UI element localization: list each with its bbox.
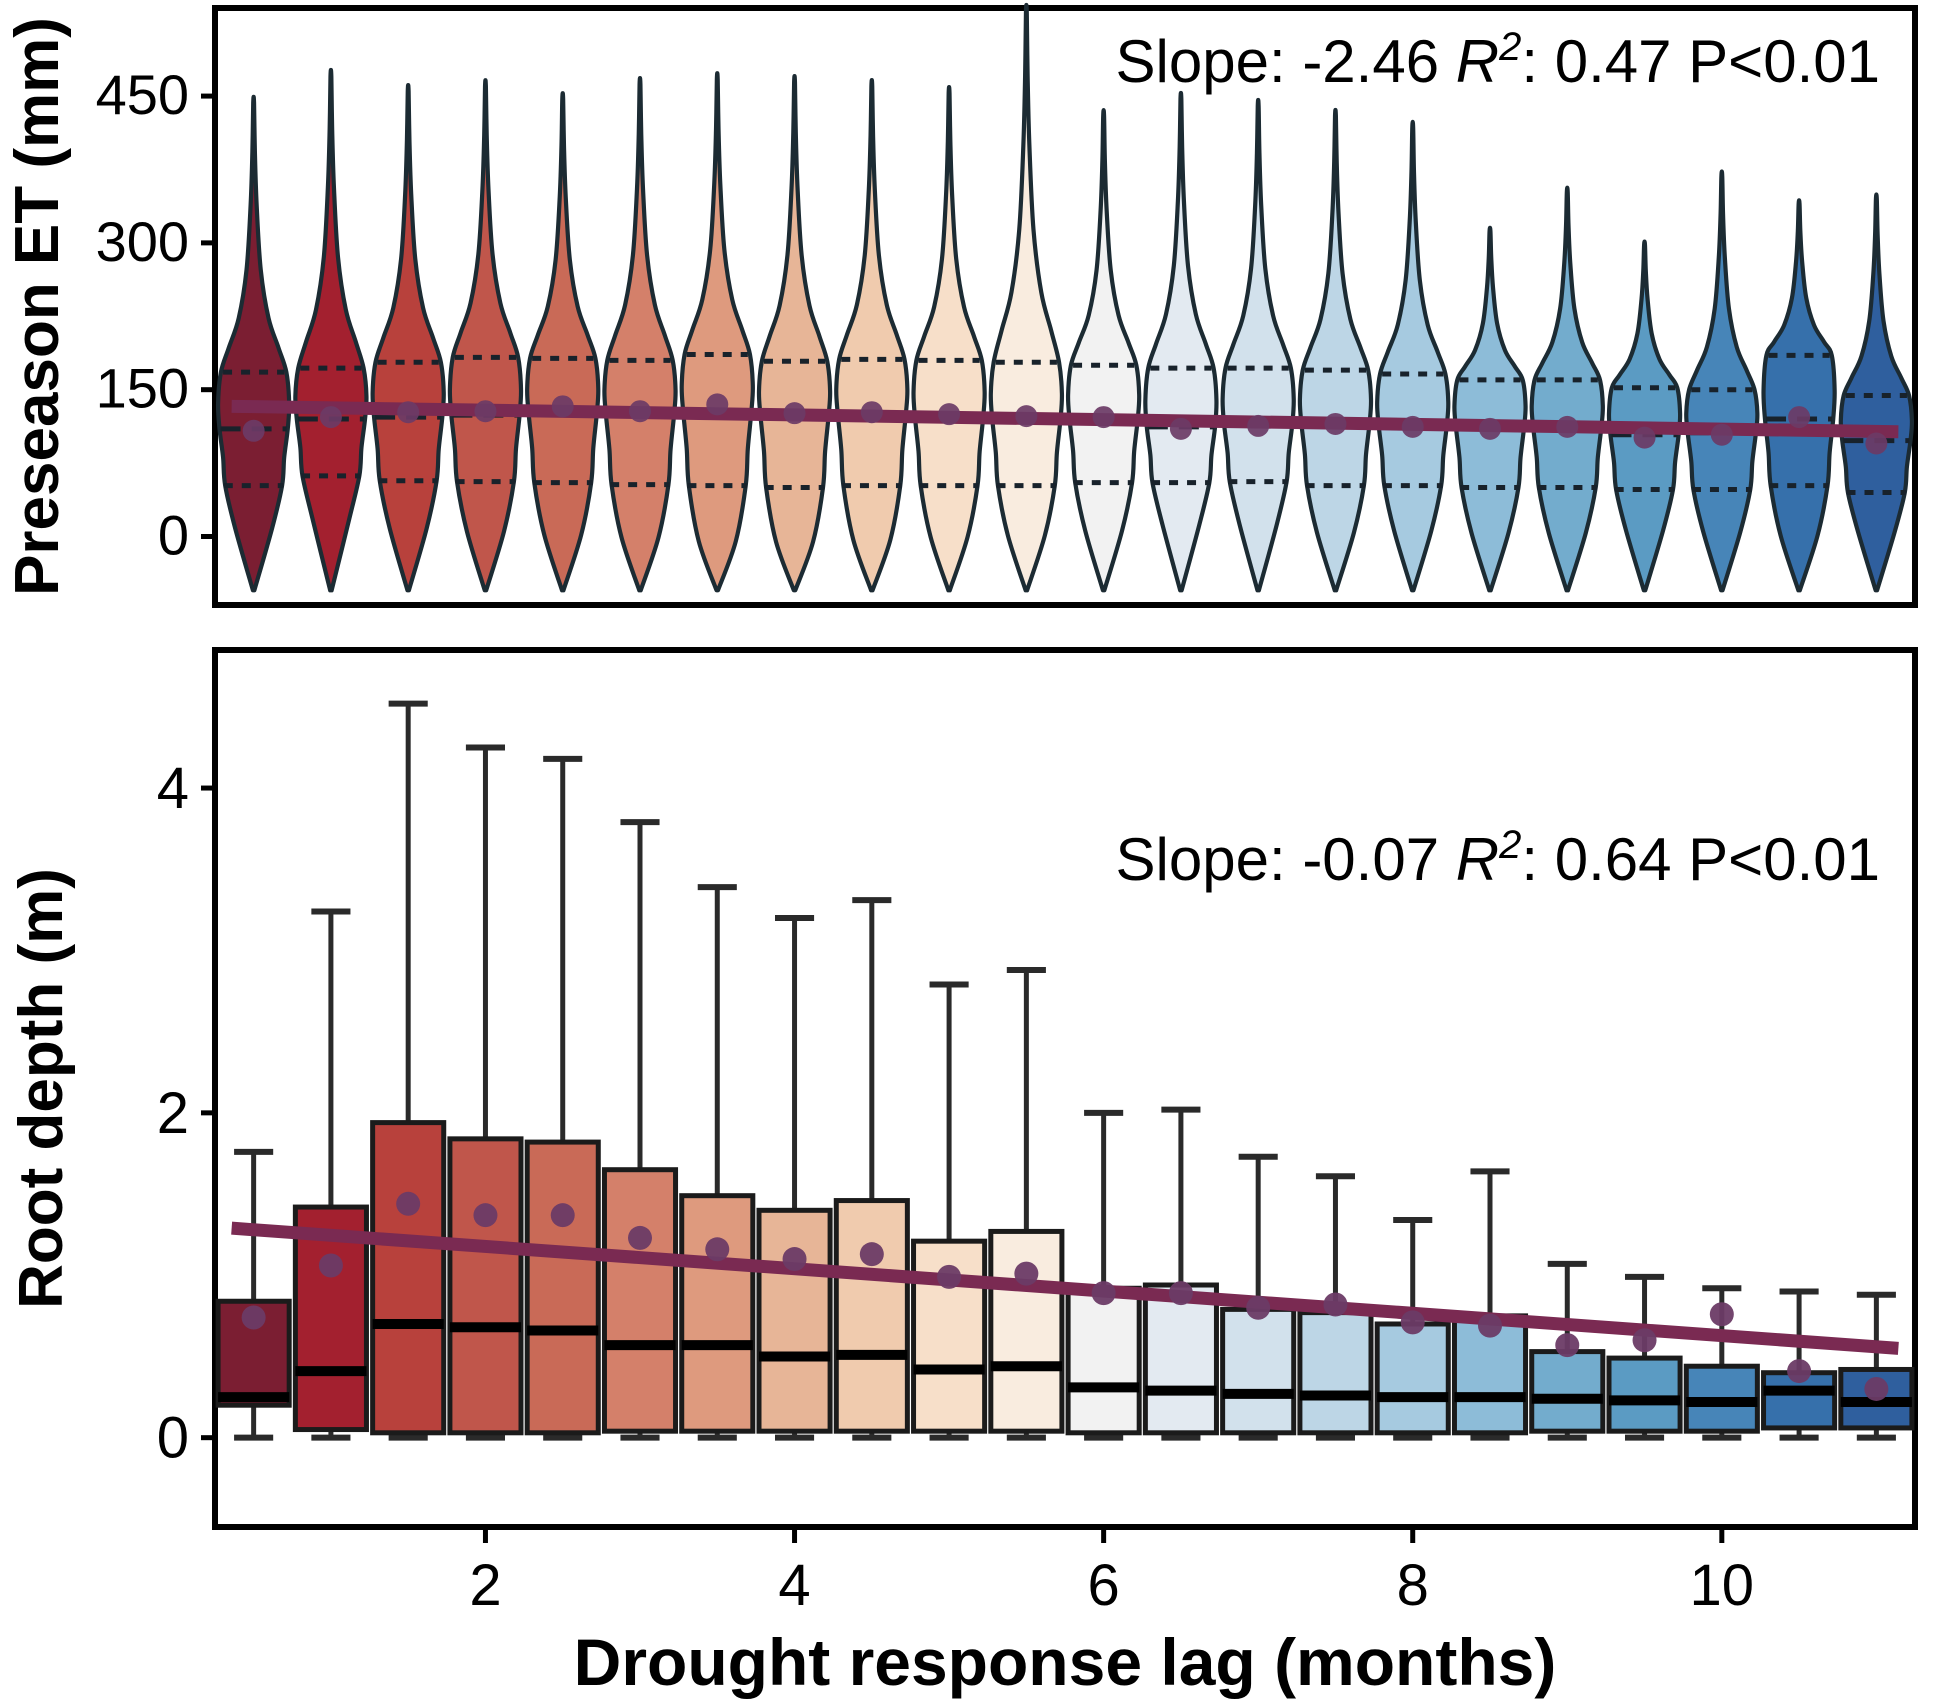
mean-marker-top [1479,418,1501,440]
mean-marker-bottom [705,1237,729,1261]
ytick-label-top: 0 [158,503,189,566]
mean-marker-top [629,400,651,422]
mean-marker-top [1093,406,1115,428]
ytick-label-top: 300 [96,210,189,273]
ylabel-preseason-et: Preseason ET (mm) [3,17,72,596]
xtick-label: 10 [1690,1553,1755,1618]
annot-r2-symbol-bottom: R [1456,826,1499,893]
mean-marker-bottom [1787,1359,1811,1383]
mean-marker-bottom [1323,1293,1347,1317]
mean-marker-top [1170,418,1192,440]
annotation-bottom: Slope: -0.07 R2: 0.64 P<0.01 [1116,823,1880,893]
mean-marker-top [552,395,574,417]
mean-marker-top [1634,427,1656,449]
box-body [1609,1358,1680,1431]
mean-marker-top [1015,405,1037,427]
annot-pvalue-top: P<0.01 [1688,28,1880,95]
xtick-label: 2 [469,1553,501,1618]
mean-marker-top [784,402,806,424]
mean-marker-bottom [396,1192,420,1216]
mean-marker-bottom [628,1226,652,1250]
mean-marker-top [1788,406,1810,428]
figure-canvas: 0150300450Preseason ET (mm)Slope: -2.46 … [0,0,1937,1700]
figure-root: 0150300450Preseason ET (mm)Slope: -2.46 … [0,0,1937,1700]
ylabel-root-depth: Root depth (m) [7,868,76,1309]
ytick-label-bottom: 2 [157,1081,189,1146]
annotation-top: Slope: -2.46 R2: 0.47 P<0.01 [1116,25,1880,95]
box-body [1223,1309,1294,1432]
panel-preseason-et: 0150300450Preseason ET (mm)Slope: -2.46 … [3,5,1915,605]
mean-marker-bottom [1478,1314,1502,1338]
box-body [759,1210,830,1431]
mean-marker-bottom [860,1242,884,1266]
mean-marker-bottom [1633,1328,1657,1352]
box-body [450,1139,521,1433]
annot-r2-exponent-bottom: 2 [1498,823,1521,867]
box-body [373,1123,444,1433]
mean-marker-bottom [1710,1302,1734,1326]
box-body [604,1170,675,1431]
box-body [1145,1285,1216,1433]
xtick-label: 4 [778,1553,810,1618]
xlabel-drought-response-lag: Drought response lag (months) [574,1625,1557,1699]
mean-marker-top [320,406,342,428]
mean-marker-bottom [783,1247,807,1271]
mean-marker-bottom [937,1265,961,1289]
box-body [1300,1313,1371,1433]
mean-marker-bottom [242,1305,266,1329]
mean-marker-top [397,401,419,423]
xtick-label: 6 [1088,1553,1120,1618]
ytick-label-bottom: 4 [157,756,189,821]
box-body [1532,1352,1603,1432]
box-body [991,1231,1062,1431]
mean-marker-bottom [1401,1310,1425,1334]
mean-marker-top [938,403,960,425]
mean-marker-top [861,401,883,423]
mean-marker-bottom [1246,1296,1270,1320]
mean-marker-bottom [551,1203,575,1227]
annot-slope-top: Slope: -2.46 [1116,28,1456,95]
mean-marker-bottom [1169,1281,1193,1305]
mean-marker-top [1865,433,1887,455]
mean-marker-bottom [1092,1281,1116,1305]
mean-marker-bottom [1014,1262,1038,1286]
mean-marker-bottom [473,1203,497,1227]
xtick-label: 8 [1397,1553,1429,1618]
panel-root-depth: 024Root depth (m)246810Slope: -0.07 R2: … [7,650,1915,1618]
box-body [682,1196,753,1431]
annot-r2-exponent-top: 2 [1498,25,1521,69]
mean-marker-top [1402,416,1424,438]
mean-marker-top [1556,416,1578,438]
mean-marker-bottom [1555,1333,1579,1357]
annot-r2-value-bottom: : 0.64 [1521,826,1688,893]
ytick-label-top: 150 [96,357,189,420]
mean-marker-top [706,393,728,415]
annot-r2-symbol-top: R [1456,28,1499,95]
mean-marker-bottom [319,1254,343,1278]
ytick-label-bottom: 0 [157,1406,189,1471]
ytick-label-top: 450 [96,63,189,126]
mean-marker-top [474,400,496,422]
mean-marker-bottom [1864,1377,1888,1401]
box-body [527,1142,598,1433]
mean-marker-top [243,420,265,442]
box-body [1377,1324,1448,1433]
annot-pvalue-bottom: P<0.01 [1688,826,1880,893]
mean-marker-top [1711,424,1733,446]
box-body [1068,1288,1139,1433]
box-body [836,1201,907,1432]
annot-slope-bottom: Slope: -0.07 [1116,826,1456,893]
annot-r2-value-top: : 0.47 [1521,28,1688,95]
mean-marker-top [1247,415,1269,437]
mean-marker-top [1324,413,1346,435]
